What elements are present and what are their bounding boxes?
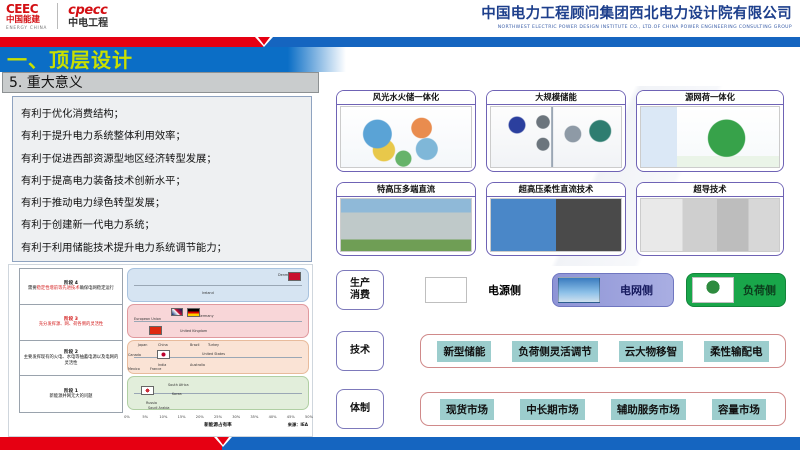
korea-flag [141,386,154,395]
stage-description: 充分发挥源、网、荷各侧的灵活性 [39,322,103,328]
benefit-item: 有利于利用储能技术提升电力系统调节能力； [21,237,303,259]
stage-row: 阶段 4需要稳定性增前等先进技术确保电网稳定运行 [20,269,122,305]
country-label: Japan [138,343,147,347]
card-image-fill [641,107,779,167]
stage-description: 新能源并网无大的问题 [50,394,93,400]
country-label: Korea [172,392,182,396]
china-flag [149,326,162,335]
pill-item[interactable]: 现货市场 [440,399,494,420]
pill-item[interactable]: 容量市场 [712,399,766,420]
accent-bar-red [0,37,263,47]
benefit-item: 有利于推动电力绿色转型发展； [21,192,303,214]
stage-description: 需要稳定性增前等先进技术确保电网稳定运行 [28,286,114,292]
technology-card[interactable]: 风光水火储一体化 [336,90,476,172]
integrated-renewable-thermal-storage-diagram [340,106,472,168]
x-axis-tick: 5% [142,415,148,419]
country-label: Ireland [202,291,214,295]
country-label: South Africa [168,383,189,387]
country-label: Saudi Arabia [148,406,170,410]
x-axis-tick: 50% [305,415,313,419]
country-label: Mexico [128,367,140,371]
technology-card[interactable]: 特高压多端直流 [336,182,476,256]
country-label: France [150,367,161,371]
ehv-flexible-dc-transmission-photo [490,198,622,252]
x-axis-tick: 35% [250,415,258,419]
x-axis-tick: 30% [232,415,240,419]
x-axis-tick: 0% [124,415,130,419]
page-title: 一、顶层设计 [7,48,133,72]
x-axis-tick: 15% [178,415,186,419]
country-label: Germany [198,314,214,318]
technology-card[interactable]: 超导技术 [636,182,784,256]
pill-item[interactable]: 新型储能 [437,341,491,362]
accent-bar-blue [263,37,800,47]
stage-band: DenmarkIreland [127,268,309,302]
card-image-fill [641,199,779,251]
company-name-block: 中国电力工程顾问集团西北电力设计院有限公司 NORTHWEST ELECTRIC… [481,2,792,30]
japan-flag [157,350,170,359]
matrix-row-label-line: 体制 [350,403,370,415]
country-label: Canada [128,353,141,357]
technology-card-caption: 特高压多端直流 [337,183,475,197]
technology-card-caption: 大规模储能 [487,91,625,105]
stage-row: 阶段 3充分发挥源、网、荷各侧的灵活性 [20,305,122,341]
cpecc-logo: cpecc 中电工程 [68,4,108,29]
technology-card[interactable]: 源网荷一体化 [636,90,784,172]
side-card-label: 电源侧 [467,282,542,298]
footer-bar-blue [222,437,800,450]
matrix-row-label: 技术 [336,331,384,371]
denmark-flag [288,272,301,281]
ceec-logo-cn: 中国能建 [6,16,40,25]
green-bulb-thumb [692,277,734,303]
side-card-load[interactable]: 负荷侧 [686,273,786,307]
source-grid-load-integration-diagram [640,106,780,168]
uhv-multi-terminal-dc-converter-station-photo [340,198,472,252]
section-title-bar: 一、顶层设计 [0,47,272,72]
country-label: European Union [134,317,161,321]
ceec-logo-mark: CEEC [6,3,38,15]
slide-canvas: CEEC 中国能建 ENERGY CHINA cpecc 中电工程 中国电力工程… [0,0,800,450]
brand-logo: CEEC 中国能建 ENERGY CHINA cpecc 中电工程 [6,3,108,30]
technology-card-caption: 风光水火储一体化 [337,91,475,105]
matrix-row-label: 体制 [336,389,384,429]
benefit-item: 有利于促进西部资源型地区经济转型发展； [21,148,303,170]
pill-item[interactable]: 辅助服务市场 [611,399,686,420]
benefits-list: 有利于优化消费结构；有利于提升电力系统整体利用效率；有利于促进西部资源型地区经济… [12,96,312,262]
country-label: Australia [190,363,205,367]
technology-card-caption: 超导技术 [637,183,783,197]
band-range-line [134,321,302,322]
ceec-logo: CEEC 中国能建 ENERGY CHINA [6,3,47,30]
transmission-tower-thumb [558,277,600,303]
country-label: China [158,343,168,347]
pill-row: 现货市场中长期市场辅助服务市场容量市场 [420,392,786,426]
pill-row: 新型储能负荷侧灵活调节云大物移智柔性输配电 [420,334,786,368]
card-image-fill [491,199,621,251]
card-image-fill [341,107,471,167]
stage-bands: DenmarkIrelandEuropean UnionUnited Kingd… [127,268,309,413]
country-label: Turkey [208,343,219,347]
superconducting-equipment-photo [640,198,780,252]
title-bar-tail [272,47,800,72]
stage-band: South AfricaKoreaRussiaSaudi Arabia [127,376,309,410]
footer-bar-red [0,437,222,450]
technology-card-caption: 源网荷一体化 [637,91,783,105]
x-axis-tick: 20% [196,415,204,419]
ceec-logo-en: ENERGY CHINA [6,26,47,30]
chart-source-note: 来源：IEA [288,422,308,428]
x-axis-tick: 25% [214,415,222,419]
side-card-label: 电网侧 [600,282,673,298]
slide-header: CEEC 中国能建 ENERGY CHINA cpecc 中电工程 中国电力工程… [0,0,800,38]
cpecc-logo-mark: cpecc [68,4,108,17]
band-range-line [134,285,302,286]
stage-table: 阶段 4需要稳定性增前等先进技术确保电网稳定运行阶段 3充分发挥源、网、荷各侧的… [19,268,123,413]
country-label: United Kingdom [180,329,207,333]
matrix-row-label-line: 生产 [350,278,370,290]
technology-card[interactable]: 超高压柔性直流技术 [486,182,626,256]
side-card-label: 负荷侧 [734,282,785,298]
company-name-en: NORTHWEST ELECTRIC POWER DESIGN INSTITUT… [481,25,792,30]
stage-description: 主要发挥现有的火电、水电等抽蓄电源以及电网的灵活性 [22,355,120,367]
x-axis-tick: 40% [269,415,277,419]
card-image-fill [491,107,621,167]
country-label: Brazil [190,343,199,347]
card-image-fill [341,199,471,251]
germany-flag [187,308,200,317]
technology-card-caption: 超高压柔性直流技术 [487,183,625,197]
band-range-line [134,393,302,394]
stage-row: 阶段 1新能源并网无大的问题 [20,376,122,412]
power-plant-thumb [425,277,467,303]
united-kingdom-flag [171,308,183,316]
company-name-cn: 中国电力工程顾问集团西北电力设计院有限公司 [481,2,792,23]
benefit-item: 有利于提高电力装备技术创新水平； [21,170,303,192]
header-accent-bar [0,37,800,47]
technology-card[interactable]: 大规模储能 [486,90,626,172]
benefit-item: 有利于优化消费结构； [21,103,303,125]
side-card-source[interactable]: 电源侧 [420,273,542,307]
large-scale-energy-storage-diagram [490,106,622,168]
cpecc-logo-cn: 中电工程 [68,19,108,29]
subsection-title: 5. 重大意义 [9,74,83,92]
stage-band: JapanChinaBrazilTurkeyUnited StatesCanad… [127,340,309,374]
country-label: Russia [146,401,157,405]
x-axis-tick: 10% [159,415,167,419]
matrix-row-label-line: 技术 [350,345,370,357]
pill-item[interactable]: 柔性输配电 [704,341,769,362]
x-axis-tick: 45% [287,415,295,419]
pill-item[interactable]: 负荷侧灵活调节 [512,341,598,362]
new-energy-share-stages-chart: 阶段 4需要稳定性增前等先进技术确保电网稳定运行阶段 3充分发挥源、网、荷各侧的… [8,264,313,437]
matrix-row-label-line: 消费 [350,290,370,302]
benefit-item: 有利于创建新一代电力系统； [21,214,303,236]
benefit-item: 有利于提升电力系统整体利用效率； [21,125,303,147]
stage-row: 阶段 2主要发挥现有的火电、水电等抽蓄电源以及电网的灵活性 [20,341,122,377]
country-label: United States [202,352,225,356]
subsection-title-bar: 5. 重大意义 [2,72,319,93]
side-card-grid[interactable]: 电网侧 [552,273,674,307]
chart-x-axis-label: 新能源占有率 [127,422,309,428]
slide-footer [0,437,800,450]
matrix-row-label: 生产消费 [336,270,384,310]
logo-divider [57,3,58,29]
pill-item[interactable]: 云大物移智 [619,341,684,362]
pill-item[interactable]: 中长期市场 [520,399,585,420]
